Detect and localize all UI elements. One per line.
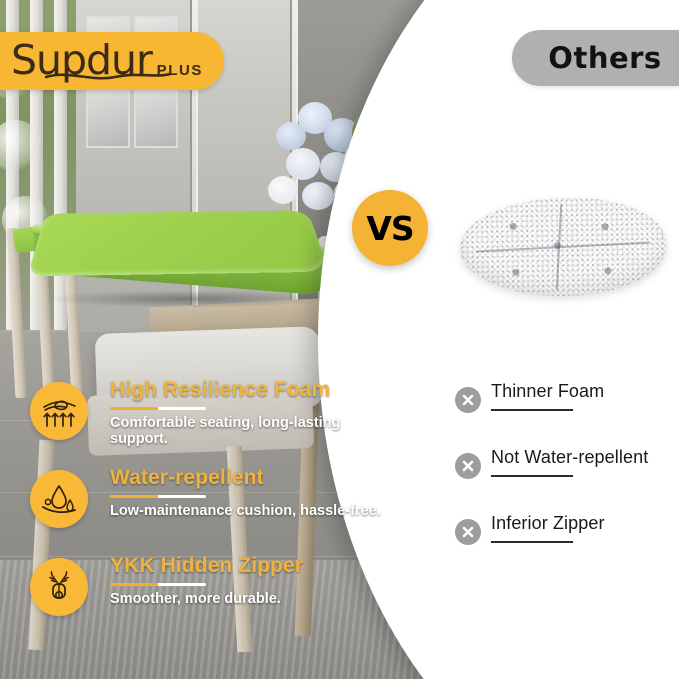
- drawback-text: Thinner Foam: [491, 381, 679, 411]
- water-droplet-repel-icon: [30, 470, 88, 528]
- feature-rule: [110, 495, 206, 498]
- hand-on-foam-arrows-icon: [30, 382, 88, 440]
- feature-rule: [110, 583, 206, 586]
- feature-item: High Resilience Foam Comfortable seating…: [30, 378, 400, 466]
- brand-lockup: Supdur PLUS: [11, 37, 209, 85]
- circle-x-icon: [455, 387, 481, 413]
- brand-suffix: PLUS: [157, 62, 203, 79]
- drawback-item: Not Water-repellent: [455, 451, 679, 517]
- others-label-pill: Others: [512, 30, 679, 86]
- others-label: Others: [548, 41, 661, 75]
- feature-list: High Resilience Foam Comfortable seating…: [30, 378, 400, 642]
- glass-pane: [86, 84, 130, 148]
- feature-text: YKK Hidden Zipper Smoother, more durable…: [110, 554, 400, 607]
- drawback-text: Not Water-repellent: [491, 447, 679, 477]
- feature-subtitle: Comfortable seating, long-lasting suppor…: [110, 415, 400, 447]
- drawback-text: Inferior Zipper: [491, 513, 679, 543]
- brand-swoosh-icon: [45, 70, 171, 82]
- zipper-icon: [30, 558, 88, 616]
- cushion-top: [27, 210, 329, 276]
- glass-pane: [134, 84, 178, 148]
- circle-x-icon: [455, 453, 481, 479]
- drawback-title: Not Water-repellent: [491, 447, 679, 468]
- competitor-cushion: [452, 188, 676, 310]
- competitor-cushion-body: [459, 196, 667, 298]
- feature-item: YKK Hidden Zipper Smoother, more durable…: [30, 554, 400, 642]
- drawback-rule: [491, 541, 573, 543]
- feature-text: Water-repellent Low-maintenance cushion,…: [110, 466, 400, 519]
- circle-x-icon: [455, 519, 481, 545]
- featured-green-cushion: [28, 178, 338, 308]
- drawback-rule: [491, 409, 573, 411]
- drawback-rule: [491, 475, 573, 477]
- feature-subtitle: Smoother, more durable.: [110, 591, 400, 607]
- drawback-title: Thinner Foam: [491, 381, 679, 402]
- feature-item: Water-repellent Low-maintenance cushion,…: [30, 466, 400, 554]
- brand-logo-pill: Supdur PLUS: [0, 32, 224, 90]
- versus-label: VS: [366, 209, 413, 248]
- drawback-item: Thinner Foam: [455, 385, 679, 451]
- feature-subtitle: Low-maintenance cushion, hassle-free.: [110, 503, 400, 519]
- feature-title: Water-repellent: [110, 466, 400, 490]
- drawback-title: Inferior Zipper: [491, 513, 679, 534]
- feature-rule: [110, 407, 206, 410]
- drawback-item: Inferior Zipper: [455, 517, 679, 583]
- feature-title: YKK Hidden Zipper: [110, 554, 400, 578]
- drawback-list: Thinner Foam Not Water-repellent: [455, 385, 679, 583]
- comparison-infographic: Supdur PLUS Others VS: [0, 0, 679, 679]
- versus-badge: VS: [352, 190, 428, 266]
- feature-text: High Resilience Foam Comfortable seating…: [110, 378, 400, 447]
- feature-title: High Resilience Foam: [110, 378, 400, 402]
